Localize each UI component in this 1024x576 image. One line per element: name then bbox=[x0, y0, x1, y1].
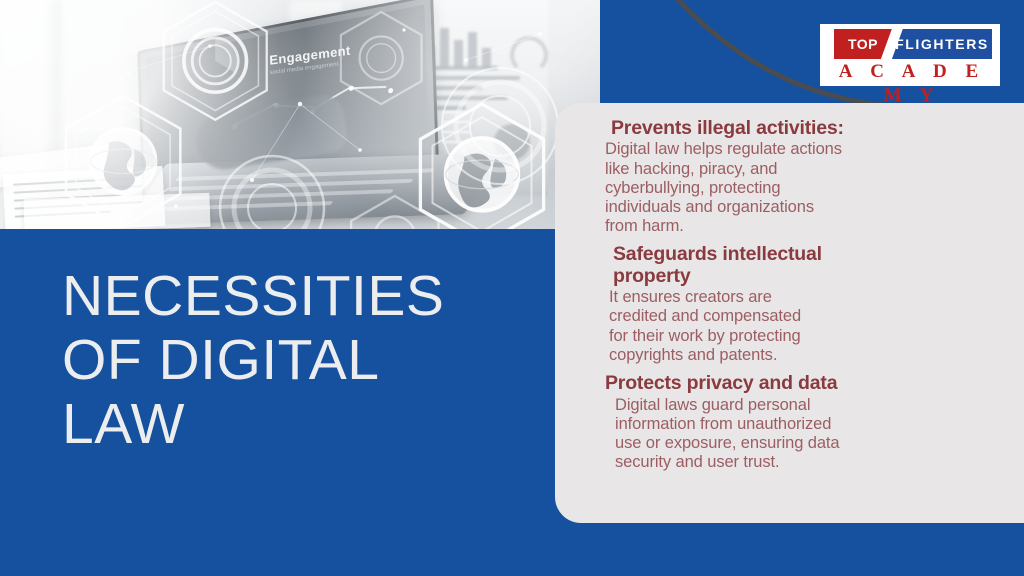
hero-photo: Engagement social media engagement bbox=[0, 0, 600, 229]
content-card-inner: Prevents illegal activities: Digital law… bbox=[555, 103, 1024, 473]
content-block-heading: Prevents illegal activities: bbox=[611, 117, 1002, 139]
content-block: Protects privacy and data Digital laws g… bbox=[605, 372, 1002, 472]
content-block-body: Digital law helps regulate actions like … bbox=[605, 140, 1002, 236]
logo-flighters-word: FLIGHTERS bbox=[892, 29, 992, 59]
hex-globe-left bbox=[66, 96, 180, 227]
hud-radial-left bbox=[220, 156, 324, 229]
content-block-body: It ensures creators are credited and com… bbox=[609, 288, 1002, 365]
content-block-body: Digital laws guard personal information … bbox=[615, 396, 1002, 473]
content-block-heading: Safeguards intellectual property bbox=[613, 243, 1002, 287]
content-block: Safeguards intellectual property It ensu… bbox=[605, 243, 1002, 366]
slide-root: Engagement social media engagement bbox=[0, 0, 1024, 576]
content-block-heading: Protects privacy and data bbox=[605, 372, 1002, 394]
title-panel: NECESSITIES OF DIGITAL LAW bbox=[0, 229, 600, 576]
logo-top-row: TOP FLIGHTERS bbox=[834, 29, 992, 59]
content-card: Prevents illegal activities: Digital law… bbox=[555, 103, 1024, 523]
page-title: NECESSITIES OF DIGITAL LAW bbox=[62, 265, 532, 456]
hex-faint-bottom bbox=[351, 196, 438, 229]
hex-rings-top bbox=[164, 2, 267, 120]
brand-logo: TOP FLIGHTERS A C A D E M Y bbox=[820, 24, 1000, 86]
content-block: Prevents illegal activities: Digital law… bbox=[605, 117, 1002, 237]
logo-academy-word: A C A D E M Y bbox=[834, 60, 990, 108]
hud-overlay bbox=[0, 0, 600, 229]
hex-faint-upper-right bbox=[341, 12, 422, 104]
